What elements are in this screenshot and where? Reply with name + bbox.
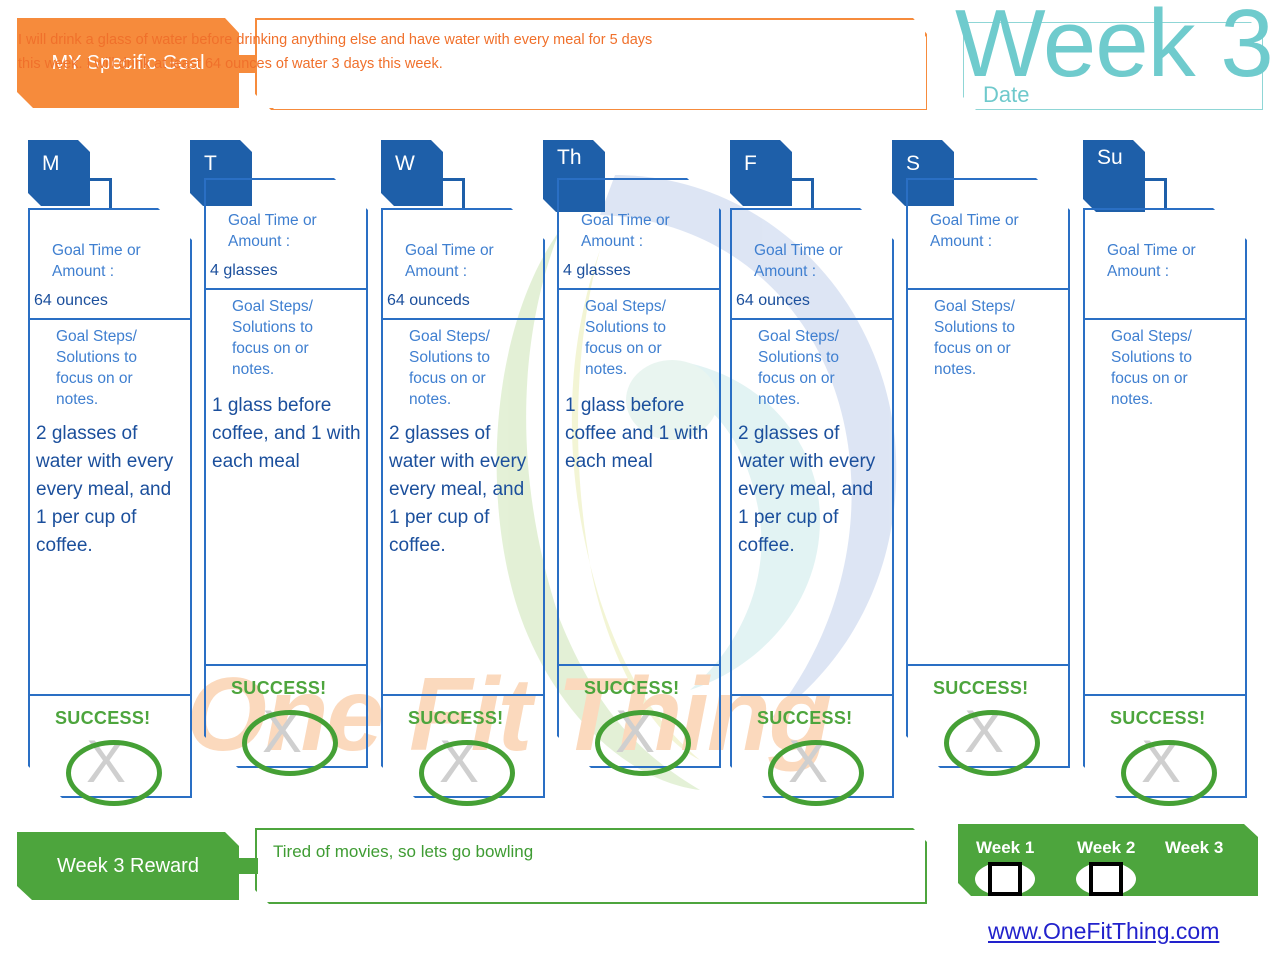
tab-connector-h-friday (768, 178, 814, 181)
tab-connector-v-friday (811, 178, 814, 210)
card-divider-amount-wednesday (383, 318, 543, 320)
card-divider-success-thursday (559, 664, 719, 666)
day-tab-label-tuesday: T (204, 151, 217, 177)
card-divider-success-wednesday (383, 694, 543, 696)
card-divider-amount-sunday (1085, 318, 1245, 320)
day-tab-label-sunday: Su (1097, 146, 1123, 170)
day-tab-monday[interactable]: M (28, 140, 90, 206)
card-divider-success-sunday (1085, 694, 1245, 696)
goal-steps-label-thursday: Goal Steps/ Solutions to focus on or not… (585, 296, 695, 380)
circle-mark-monday (66, 740, 162, 806)
goal-amount-value-tuesday[interactable]: 4 glasses (210, 260, 360, 282)
goal-steps-label-friday: Goal Steps/ Solutions to focus on or not… (758, 326, 868, 410)
card-divider-success-monday (30, 694, 190, 696)
goal-amount-label-monday: Goal Time or Amount : (52, 240, 182, 282)
goal-steps-label-saturday: Goal Steps/ Solutions to focus on or not… (934, 296, 1044, 380)
week-reward-tag: Week 3 Reward (17, 832, 239, 900)
goal-amount-value-monday[interactable]: 64 ounces (34, 290, 184, 312)
card-divider-amount-monday (30, 318, 190, 320)
tracker-label-week-2: Week 2 (1077, 838, 1135, 858)
day-tab-label-wednesday: W (395, 151, 415, 177)
card-divider-success-tuesday (206, 664, 366, 666)
goal-amount-label-friday: Goal Time or Amount : (754, 240, 884, 282)
day-tab-wednesday[interactable]: W (381, 140, 443, 206)
tracker-checkbox-week-2[interactable] (1089, 862, 1123, 896)
goal-steps-label-tuesday: Goal Steps/ Solutions to focus on or not… (232, 296, 342, 380)
circle-mark-friday (768, 740, 864, 806)
goal-amount-label-thursday: Goal Time or Amount : (581, 210, 711, 252)
success-label-thursday: SUCCESS! (584, 678, 679, 699)
week-reward-label: Week 3 Reward (57, 855, 199, 878)
day-tab-friday[interactable]: F (730, 140, 792, 206)
goal-amount-value-thursday[interactable]: 4 glasses (563, 260, 713, 282)
tab-connector-v-sunday (1164, 178, 1167, 210)
worksheet-page: One Fit Thing MY Specific Goal I will dr… (0, 0, 1280, 960)
goal-steps-label-monday: Goal Steps/ Solutions to focus on or not… (56, 326, 166, 410)
success-label-monday: SUCCESS! (55, 708, 150, 729)
card-divider-amount-friday (732, 318, 892, 320)
day-tab-label-monday: M (42, 151, 60, 177)
tab-connector-h-sunday (1121, 178, 1167, 181)
website-link[interactable]: www.OneFitThing.com (988, 918, 1219, 945)
success-label-wednesday: SUCCESS! (408, 708, 503, 729)
goal-amount-label-saturday: Goal Time or Amount : (930, 210, 1060, 252)
goal-steps-value-tuesday[interactable]: 1 glass before coffee, and 1 with each m… (212, 392, 362, 476)
tab-connector-v-monday (109, 178, 112, 210)
goal-steps-label-sunday: Goal Steps/ Solutions to focus on or not… (1111, 326, 1221, 410)
circle-mark-wednesday (419, 740, 515, 806)
circle-mark-sunday (1121, 740, 1217, 806)
reward-connector-stub (236, 858, 258, 874)
card-divider-amount-saturday (908, 288, 1068, 290)
week-title: Week 3 (955, 0, 1273, 94)
goal-amount-label-wednesday: Goal Time or Amount : (405, 240, 535, 282)
success-label-tuesday: SUCCESS! (231, 678, 326, 699)
day-tab-sunday[interactable]: Su (1083, 140, 1145, 212)
circle-mark-thursday (595, 710, 691, 776)
goal-amount-label-tuesday: Goal Time or Amount : (228, 210, 358, 252)
card-divider-success-friday (732, 694, 892, 696)
tracker-label-week-1: Week 1 (976, 838, 1034, 858)
circle-mark-saturday (944, 710, 1040, 776)
goal-steps-value-friday[interactable]: 2 glasses of water with every every meal… (738, 420, 886, 560)
goal-amount-label-sunday: Goal Time or Amount : (1107, 240, 1237, 282)
goal-steps-label-wednesday: Goal Steps/ Solutions to focus on or not… (409, 326, 519, 410)
card-divider-amount-tuesday (206, 288, 366, 290)
day-tab-label-saturday: S (906, 151, 920, 177)
success-label-friday: SUCCESS! (757, 708, 852, 729)
goal-steps-value-thursday[interactable]: 1 glass before coffee and 1 with each me… (565, 392, 715, 476)
tab-connector-v-wednesday (462, 178, 465, 210)
circle-mark-tuesday (242, 710, 338, 776)
tab-connector-h-monday (66, 178, 112, 181)
tab-connector-h-wednesday (419, 178, 465, 181)
goal-steps-value-monday[interactable]: 2 glasses of water with every every meal… (36, 420, 184, 560)
reward-text: Tired of movies, so lets go bowling (273, 842, 533, 862)
reward-box[interactable] (255, 828, 927, 904)
tracker-checkbox-week-1[interactable] (988, 862, 1022, 896)
card-divider-success-saturday (908, 664, 1068, 666)
success-label-saturday: SUCCESS! (933, 678, 1028, 699)
tracker-label-week-3: Week 3 (1165, 838, 1223, 858)
goal-statement-text: I will drink a glass of water before dri… (18, 28, 662, 76)
card-divider-amount-thursday (559, 288, 719, 290)
day-tab-label-friday: F (744, 151, 757, 177)
success-label-sunday: SUCCESS! (1110, 708, 1205, 729)
goal-steps-value-wednesday[interactable]: 2 glasses of water with every every meal… (389, 420, 537, 560)
goal-amount-value-friday[interactable]: 64 ounces (736, 290, 886, 312)
goal-amount-value-wednesday[interactable]: 64 ounceds (387, 290, 537, 312)
day-tab-label-thursday: Th (557, 146, 582, 170)
